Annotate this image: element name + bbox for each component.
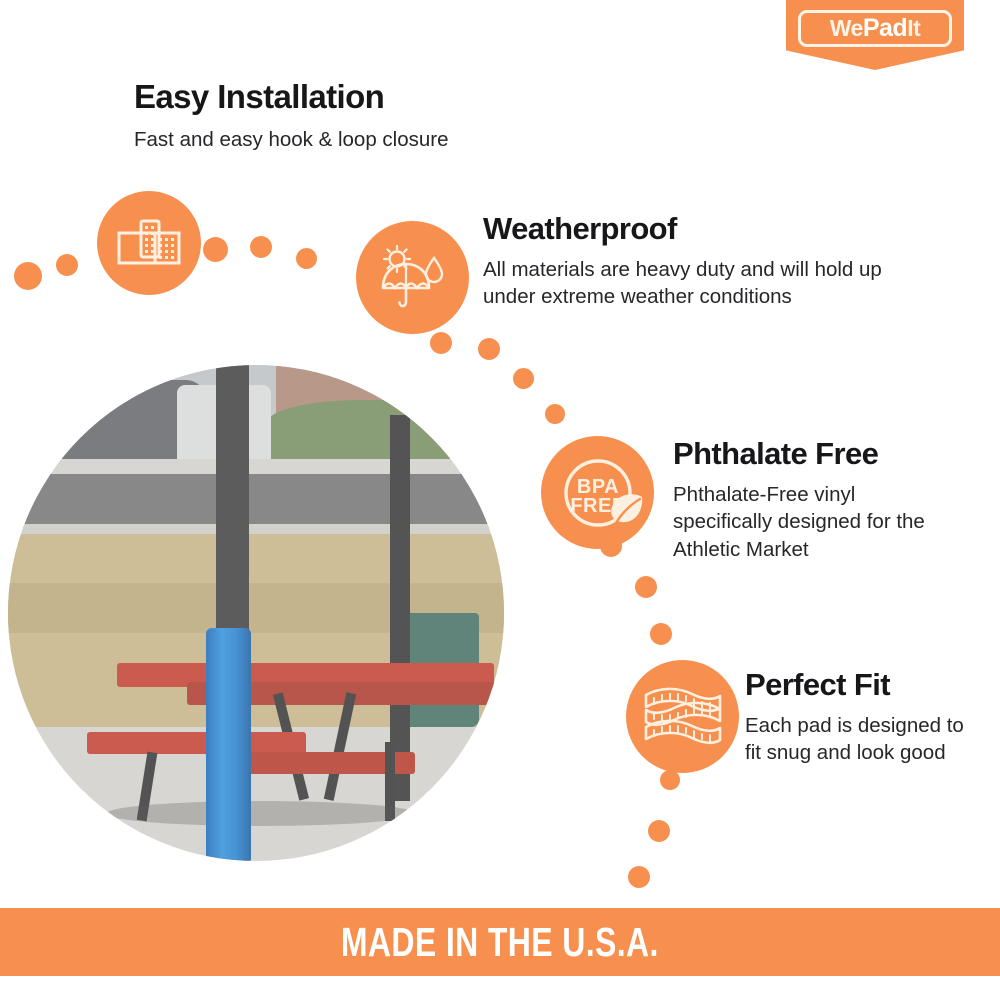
hook-and-loop-icon [117, 217, 181, 269]
trail-dot [296, 248, 317, 269]
trail-dot [513, 368, 534, 389]
feature-icon-perfect-fit[interactable] [626, 660, 739, 773]
logo-text-pad: Pad [863, 14, 907, 42]
logo-text-we: We [830, 15, 863, 41]
photo-overlay-wash [8, 365, 504, 861]
trail-dot [648, 820, 670, 842]
logo-inner-frame: WePadIt [798, 10, 952, 47]
trail-dot [430, 332, 452, 354]
umbrella-sun-raindrop-icon [376, 244, 450, 312]
trail-dot [635, 576, 657, 598]
trail-dot [250, 236, 272, 258]
feature-title-perfect-fit: Perfect Fit [745, 669, 890, 702]
trail-dot [628, 866, 650, 888]
brand-logo[interactable]: WePadIt [786, 0, 964, 70]
made-in-usa-text: MADE IN THE U.S.A. [341, 919, 659, 966]
product-photo [8, 365, 504, 861]
trail-dot [56, 254, 78, 276]
infographic-page: WePadIt Easy Installation Fast and easy … [0, 0, 1000, 987]
trail-dot [203, 237, 228, 262]
made-in-usa-banner: MADE IN THE U.S.A. [0, 908, 1000, 976]
feature-icon-easy-installation[interactable] [97, 191, 201, 295]
feature-description-perfect-fit: Each pad is designed to fit snug and loo… [745, 712, 980, 767]
feature-description-easy-installation: Fast and easy hook & loop closure [134, 126, 554, 153]
logo-wordmark: WePadIt [830, 16, 921, 41]
feature-icon-weatherproof[interactable] [356, 221, 469, 334]
trail-dot [14, 262, 42, 290]
feature-description-weatherproof: All materials are heavy duty and will ho… [483, 256, 903, 311]
feature-icon-phthalate-free[interactable]: BPA FREE [541, 436, 654, 549]
logo-text-it: It [907, 15, 920, 41]
feature-title-phthalate-free: Phthalate Free [673, 438, 878, 471]
feature-title-easy-installation: Easy Installation [134, 80, 384, 115]
measuring-tape-icon [640, 677, 726, 757]
feature-description-phthalate-free: Phthalate-Free vinyl specifically design… [673, 481, 943, 563]
trail-dot [545, 404, 565, 424]
feature-title-weatherproof: Weatherproof [483, 213, 677, 246]
bpa-free-leaf-icon: BPA FREE [550, 445, 646, 541]
trail-dot [650, 623, 672, 645]
trail-dot [478, 338, 500, 360]
trail-dot [660, 770, 680, 790]
